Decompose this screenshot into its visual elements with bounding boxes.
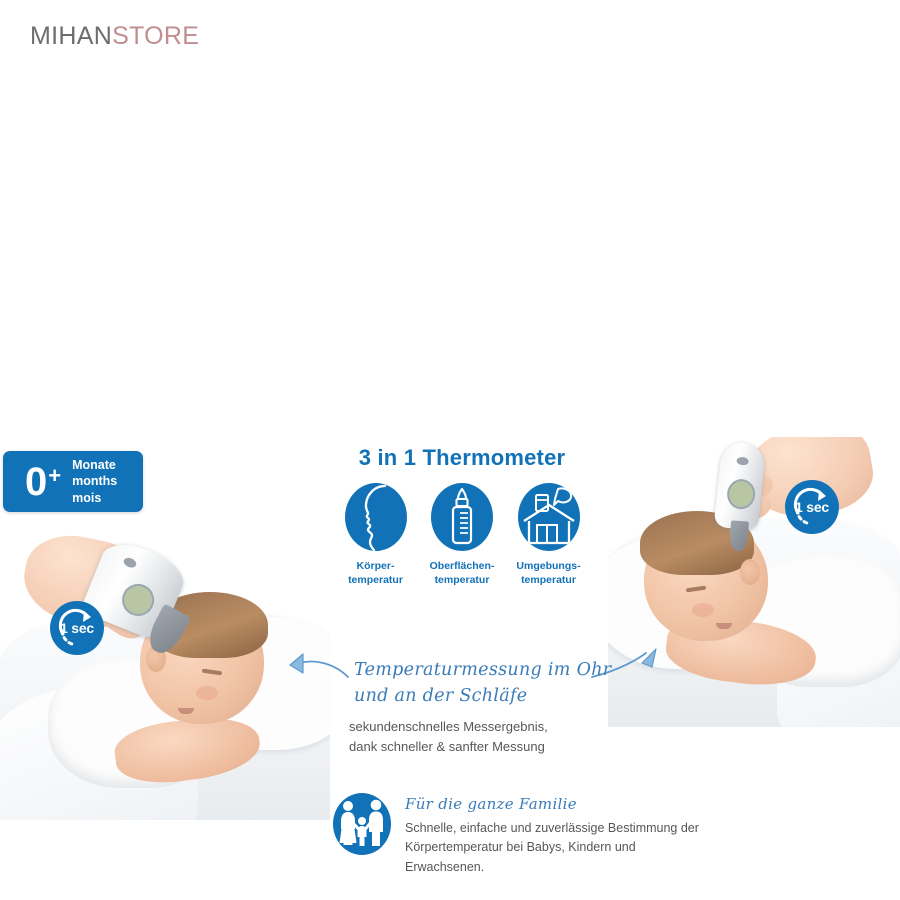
age-badge: 0 + Monate months mois xyxy=(3,451,143,512)
family-body-line1: Schnelle, einfache und zuverlässige Best… xyxy=(405,819,703,838)
highlight-subtext: sekundenschnelles Messergebnis, dank sch… xyxy=(349,717,669,757)
speed-badge-label: 1 sec xyxy=(795,499,829,515)
feature-surface-temperature: Oberflächen- temperatur xyxy=(424,483,500,588)
family-body-line2: Körpertemperatur bei Babys, Kindern und … xyxy=(405,838,703,877)
age-badge-line-en: months xyxy=(72,473,117,490)
feature-body-temperature: Körper- temperatur xyxy=(338,483,414,588)
baby-ear xyxy=(740,559,760,585)
family-title: Für die ganze Familie xyxy=(405,795,703,813)
highlight-subtext-line1: sekundenschnelles Messergebnis, xyxy=(349,717,669,737)
logo-text-primary: MIHAN xyxy=(30,22,112,50)
photo-baby-ear-measurement xyxy=(0,530,330,820)
family-text-group: Für die ganze Familie Schnelle, einfache… xyxy=(405,795,703,877)
age-badge-words: Monate months mois xyxy=(72,457,117,507)
highlight-script-line1: Temperaturmessung im Ohr xyxy=(354,657,634,683)
house-thermometer-icon xyxy=(518,483,580,551)
family-icon xyxy=(333,793,391,855)
feature-label-line2: temperatur xyxy=(424,574,500,588)
family-feature-block: Für die ganze Familie Schnelle, einfache… xyxy=(333,793,703,877)
feature-label-line1: Oberflächen- xyxy=(424,560,500,574)
pointer-arrow-left-icon xyxy=(286,651,352,687)
feature-label-line2: temperatur xyxy=(338,574,414,588)
age-badge-plus: + xyxy=(48,465,61,487)
age-badge-value: 0 xyxy=(25,462,47,502)
feature-icon-row: Körper- temperatur xyxy=(338,483,587,588)
feature-label-line1: Umgebungs- xyxy=(511,560,587,574)
speed-badge-right: 1 sec xyxy=(785,480,839,534)
speed-badge-label: 1 sec xyxy=(60,620,94,636)
baby-cheek xyxy=(692,603,714,617)
age-badge-line-fr: mois xyxy=(72,490,117,507)
banner-title: 3 in 1 Thermometer xyxy=(332,445,592,471)
speed-badge-left: 1 sec xyxy=(50,601,104,655)
age-badge-line-de: Monate xyxy=(72,457,117,474)
highlight-subtext-line2: dank schneller & sanfter Messung xyxy=(349,737,669,757)
baby-cheek xyxy=(196,686,218,700)
product-banner: 0 + Monate months mois 1 sec 1 sec xyxy=(0,205,900,655)
family-body: Schnelle, einfache und zuverlässige Best… xyxy=(405,819,703,877)
feature-label-line1: Körper- xyxy=(338,560,414,574)
feature-ambient-temperature: Umgebungs- temperatur xyxy=(511,483,587,588)
feature-label-line2: temperatur xyxy=(511,574,587,588)
feature-label: Umgebungs- temperatur xyxy=(511,560,587,588)
feature-column: 3 in 1 Thermometer Körper- temperatur xyxy=(332,445,592,588)
feature-label: Körper- temperatur xyxy=(338,560,414,588)
baby-bottle-icon xyxy=(431,483,493,551)
logo-text-secondary: STORE xyxy=(112,22,199,50)
ear-thermometer xyxy=(714,441,767,531)
feature-label: Oberflächen- temperatur xyxy=(424,560,500,588)
site-logo[interactable]: MIHANSTORE xyxy=(30,22,199,51)
head-profile-icon xyxy=(345,483,407,551)
page-root: MIHANSTORE xyxy=(0,0,900,900)
highlight-script-line2: und an der Schläfe xyxy=(354,683,634,709)
highlight-script-text: Temperaturmessung im Ohr und an der Schl… xyxy=(354,657,634,710)
